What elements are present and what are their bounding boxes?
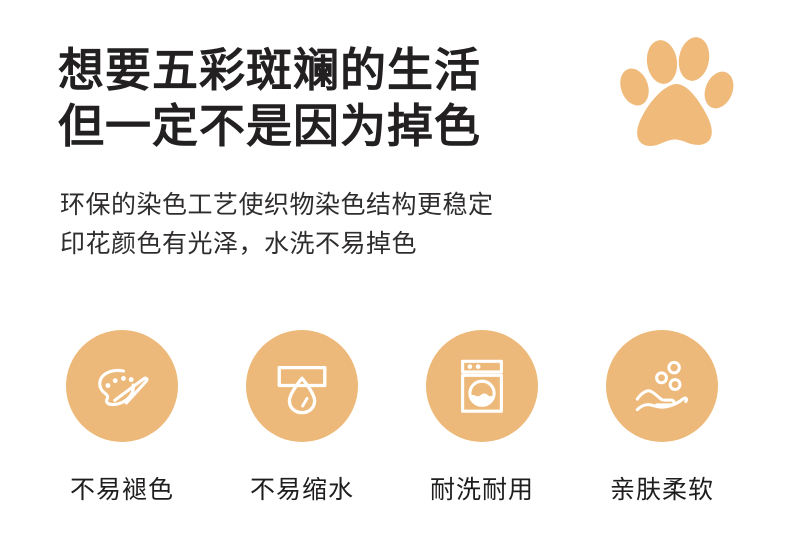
- palette-brush-icon: [91, 355, 153, 417]
- hand-bubbles-icon: [631, 355, 693, 417]
- feature-icon-circle-3: [426, 330, 538, 442]
- headline-line-1: 想要五彩斑斓的生活: [58, 42, 578, 98]
- subtitle-line-1: 环保的染色工艺使织物染色结构更稳定: [60, 186, 620, 225]
- paw-print-icon: [620, 26, 735, 151]
- feature-label-1: 不易褪色: [70, 474, 174, 506]
- feature-label-3: 耐洗耐用: [430, 474, 534, 506]
- feature-item-3[interactable]: 耐洗耐用: [392, 330, 572, 506]
- feature-label-4: 亲肤柔软: [610, 474, 714, 506]
- feature-list: 不易褪色 不易缩水: [0, 330, 790, 506]
- headline-line-2: 但一定不是因为掉色: [58, 98, 578, 154]
- fabric-waterdrop-icon: [271, 355, 333, 417]
- subtitle: 环保的染色工艺使织物染色结构更稳定 印花颜色有光泽，水洗不易掉色: [60, 186, 620, 264]
- feature-banner: 想要五彩斑斓的生活 但一定不是因为掉色 环保的染色工艺使织物染色结构更稳定 印花…: [0, 0, 790, 545]
- subtitle-line-2: 印花颜色有光泽，水洗不易掉色: [60, 225, 620, 264]
- feature-item-2[interactable]: 不易缩水: [212, 330, 392, 506]
- feature-item-4[interactable]: 亲肤柔软: [572, 330, 752, 506]
- washing-machine-icon: [451, 355, 513, 417]
- feature-icon-circle-4: [606, 330, 718, 442]
- headline: 想要五彩斑斓的生活 但一定不是因为掉色: [58, 42, 578, 154]
- feature-label-2: 不易缩水: [250, 474, 354, 506]
- feature-icon-circle-2: [246, 330, 358, 442]
- feature-item-1[interactable]: 不易褪色: [32, 330, 212, 506]
- feature-icon-circle-1: [66, 330, 178, 442]
